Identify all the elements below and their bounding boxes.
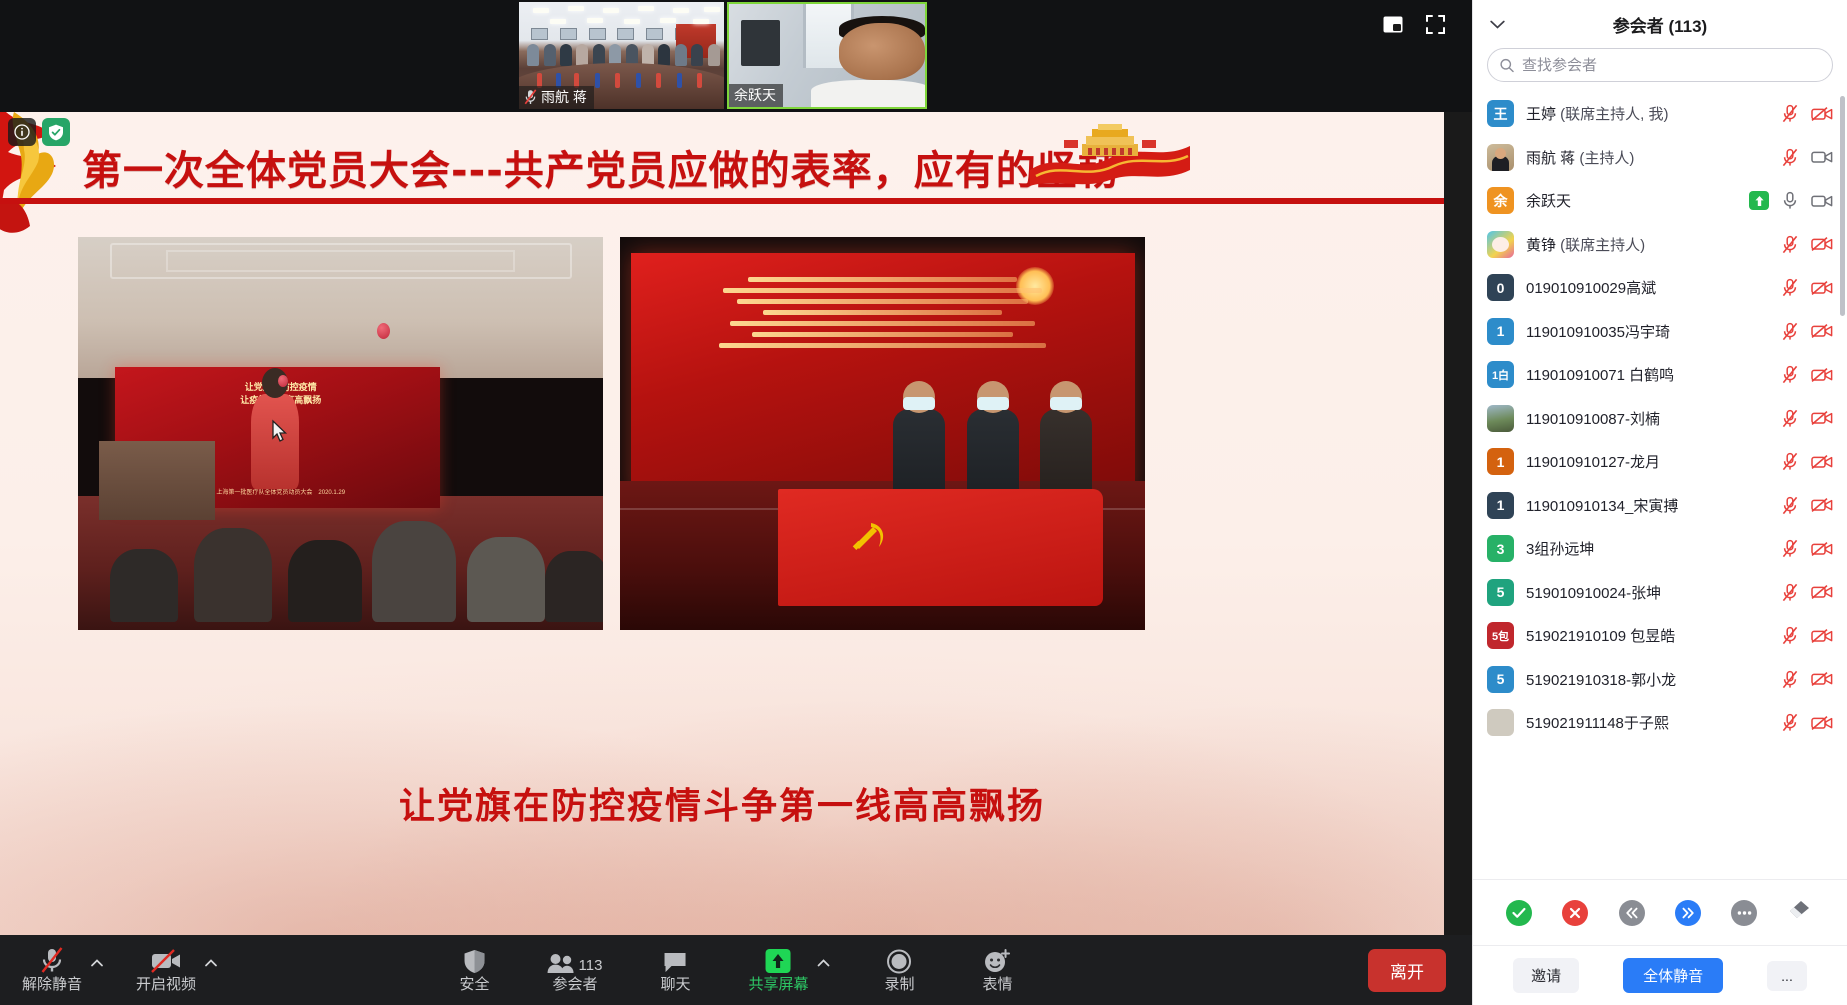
- search-icon: [1500, 58, 1514, 73]
- participant-controls: [1782, 278, 1833, 297]
- thumbnail-participant-name: 雨航 蒋: [541, 88, 587, 106]
- participant-row[interactable]: 5519021910318-郭小龙: [1473, 658, 1847, 702]
- shield-icon: [464, 946, 486, 974]
- mute-button[interactable]: 解除静音: [16, 939, 88, 1001]
- mic-muted-icon[interactable]: [1782, 148, 1798, 167]
- avatar: 5: [1487, 579, 1514, 606]
- camera-off-icon[interactable]: [1811, 280, 1833, 296]
- mic-muted-icon[interactable]: [1782, 713, 1798, 732]
- security-button[interactable]: 安全: [444, 939, 506, 1001]
- avatar: 5包: [1487, 622, 1514, 649]
- camera-off-icon[interactable]: [1811, 454, 1833, 470]
- participants-panel-title: 参会者 (113): [1613, 12, 1707, 37]
- search-box[interactable]: [1487, 48, 1833, 82]
- participants-list[interactable]: 王王婷 (联席主持人, 我)雨航 蒋 (主持人)余余跃天黄铮 (联席主持人)00…: [1473, 92, 1847, 879]
- share-screen-button[interactable]: 共享屏幕: [742, 939, 814, 1001]
- participant-reaction-actions: [1473, 879, 1847, 945]
- participant-name: 519010910024-张坤: [1526, 582, 1770, 603]
- shield-check-icon[interactable]: [42, 118, 70, 146]
- mic-muted-icon[interactable]: [1782, 583, 1798, 602]
- zoom-meeting-window: 第一次全体党员大会---共产党员应做的表率，应有的坚韧: [0, 0, 1847, 1005]
- camera-off-icon[interactable]: [1811, 715, 1833, 731]
- participant-name: 余跃天: [1526, 190, 1737, 211]
- participant-controls: [1782, 409, 1833, 428]
- info-icon[interactable]: [8, 118, 36, 146]
- participant-name: 119010910127-龙月: [1526, 451, 1770, 472]
- camera-off-icon[interactable]: [1811, 106, 1833, 122]
- participant-role: (联席主持人): [1556, 237, 1645, 254]
- participants-button[interactable]: 113 参会者: [542, 939, 609, 1001]
- participant-name: 519021910109 包昱皓: [1526, 625, 1770, 646]
- video-options-chevron-icon[interactable]: [202, 939, 220, 1001]
- mic-muted-icon: [524, 89, 537, 105]
- participant-row[interactable]: 黄铮 (联席主持人): [1473, 223, 1847, 267]
- start-video-button[interactable]: 开启视频: [130, 939, 202, 1001]
- record-button[interactable]: 录制: [868, 939, 930, 1001]
- video-filmstrip: 雨航 蒋 余跃天: [0, 0, 1472, 112]
- reactions-button[interactable]: 表情: [966, 939, 1028, 1001]
- avatar: [1487, 405, 1514, 432]
- mic-muted-icon[interactable]: [1782, 322, 1798, 341]
- participant-controls: [1782, 713, 1833, 732]
- video-thumbnail[interactable]: 雨航 蒋: [519, 2, 724, 109]
- participant-controls: [1782, 452, 1833, 471]
- meeting-toolbar: 解除静音 开启视频: [0, 935, 1472, 1005]
- participant-name: 019010910029高斌: [1526, 277, 1770, 298]
- participant-name: 119010910071 白鹤鸣: [1526, 364, 1770, 385]
- tiananmen-ribbon-ornament: [1030, 118, 1190, 194]
- participant-controls: [1782, 583, 1833, 602]
- participant-controls: [1782, 496, 1833, 515]
- reactions-button-label: 表情: [982, 976, 1012, 994]
- avatar: 王: [1487, 100, 1514, 127]
- share-screen-up-arrow-icon: [765, 946, 792, 974]
- participant-row[interactable]: 33组孙远坤: [1473, 527, 1847, 571]
- shared-screen-content: 第一次全体党员大会---共产党员应做的表率，应有的坚韧: [0, 112, 1444, 935]
- mic-muted-icon[interactable]: [1782, 365, 1798, 384]
- mic-muted-icon[interactable]: [1782, 496, 1798, 515]
- camera-off-icon[interactable]: [1811, 410, 1833, 426]
- search-input[interactable]: [1522, 57, 1820, 74]
- slide-photo-auditorium: 让党旗在防控疫情让疫第一线高高飘扬 上海第一批医疗队全体党员动员大会 2020.…: [78, 237, 603, 630]
- participants-search: [1473, 48, 1847, 92]
- camera-off-icon[interactable]: [1811, 236, 1833, 252]
- participant-controls: [1782, 670, 1833, 689]
- chat-button-label: 聊天: [660, 976, 690, 994]
- participant-role: (主持人): [1575, 150, 1634, 167]
- participant-row[interactable]: 0019010910029高斌: [1473, 266, 1847, 310]
- participant-name: 119010910035冯宇琦: [1526, 321, 1770, 342]
- participant-row[interactable]: 余余跃天: [1473, 179, 1847, 223]
- raise-hand-icon[interactable]: [1749, 191, 1769, 210]
- chevron-down-icon[interactable]: [1487, 14, 1507, 34]
- avatar: [1487, 144, 1514, 171]
- participant-controls: [1782, 322, 1833, 341]
- camera-off-icon: [150, 946, 182, 974]
- avatar: [1487, 231, 1514, 258]
- panel-more-options-button[interactable]: ...: [1767, 961, 1807, 991]
- avatar: 余: [1487, 187, 1514, 214]
- chat-bubble-icon: [663, 946, 688, 974]
- record-circle-icon: [887, 946, 912, 974]
- participant-row[interactable]: 119010910087-刘楠: [1473, 397, 1847, 441]
- participant-controls: [1782, 148, 1833, 167]
- participant-name: 黄铮 (联席主持人): [1526, 234, 1770, 255]
- no-button[interactable]: [1562, 900, 1588, 926]
- video-thumbnail-active-speaker[interactable]: 余跃天: [727, 2, 927, 109]
- speed-up-button[interactable]: [1675, 900, 1701, 926]
- avatar: 1: [1487, 492, 1514, 519]
- camera-off-icon[interactable]: [1811, 584, 1833, 600]
- participants-panel-footer: 邀请 全体静音 ...: [1473, 945, 1847, 1005]
- participant-name: 119010910134_宋寅搏: [1526, 495, 1770, 516]
- participant-row[interactable]: 1119010910035冯宇琦: [1473, 310, 1847, 354]
- participant-controls: [1782, 539, 1833, 558]
- mic-muted-icon[interactable]: [1782, 670, 1798, 689]
- camera-off-icon[interactable]: [1811, 628, 1833, 644]
- slide-caption: 让党旗在防控疫情斗争第一线高高飘扬: [0, 777, 1444, 829]
- participant-row[interactable]: 1白119010910071 白鹤鸣: [1473, 353, 1847, 397]
- mic-muted-icon: [39, 946, 65, 974]
- camera-on-icon[interactable]: [1811, 149, 1833, 165]
- mic-muted-icon[interactable]: [1782, 539, 1798, 558]
- participant-role: (联席主持人, 我): [1556, 106, 1669, 123]
- slide-title-rule: [0, 198, 1444, 204]
- participants-button-label: 参会者: [552, 976, 597, 994]
- participant-controls: [1782, 235, 1833, 254]
- meeting-stage: 第一次全体党员大会---共产党员应做的表率，应有的坚韧: [0, 0, 1472, 1005]
- mic-muted-icon[interactable]: [1782, 626, 1798, 645]
- meeting-info-badges: [8, 118, 70, 146]
- camera-off-icon[interactable]: [1811, 497, 1833, 513]
- picture-in-picture-icon[interactable]: [1378, 10, 1408, 38]
- participant-name: 519021911148于子熙: [1526, 712, 1770, 733]
- thumbnail-participant-name: 余跃天: [734, 86, 776, 104]
- participant-controls: [1782, 626, 1833, 645]
- avatar: 3: [1487, 535, 1514, 562]
- participant-name: 王婷 (联席主持人, 我): [1526, 103, 1770, 124]
- mute-all-button[interactable]: 全体静音: [1623, 958, 1723, 993]
- photo-party-flag: [778, 489, 1104, 607]
- hammer-sickle-emblem-icon: [849, 517, 891, 559]
- avatar: 1: [1487, 318, 1514, 345]
- camera-off-icon[interactable]: [1811, 323, 1833, 339]
- camera-off-icon[interactable]: [1811, 541, 1833, 557]
- participant-row[interactable]: 王王婷 (联席主持人, 我): [1473, 92, 1847, 136]
- share-screen-button-label: 共享屏幕: [748, 976, 808, 994]
- thumbnail-label: 余跃天: [729, 84, 783, 107]
- slide-mountain-watermark: [0, 605, 1444, 935]
- mute-button-label: 解除静音: [22, 976, 82, 994]
- camera-on-icon[interactable]: [1811, 193, 1833, 209]
- share-options-chevron-icon[interactable]: [814, 939, 832, 1001]
- camera-off-icon[interactable]: [1811, 367, 1833, 383]
- participant-row[interactable]: 雨航 蒋 (主持人): [1473, 136, 1847, 180]
- more-reactions-button[interactable]: [1731, 900, 1757, 926]
- participant-name: 119010910087-刘楠: [1526, 408, 1770, 429]
- avatar: [1487, 709, 1514, 736]
- avatar: 5: [1487, 666, 1514, 693]
- participants-icon: 113: [548, 946, 603, 974]
- thumbnail-label: 雨航 蒋: [519, 86, 594, 109]
- avatar: 1白: [1487, 361, 1514, 388]
- slide-title: 第一次全体党员大会---共产党员应做的表率，应有的坚韧: [82, 138, 1119, 196]
- mic-muted-icon[interactable]: [1782, 278, 1798, 297]
- start-video-button-label: 开启视频: [136, 976, 196, 994]
- invite-button[interactable]: 邀请: [1513, 958, 1579, 993]
- mic-muted-icon[interactable]: [1782, 452, 1798, 471]
- participant-row[interactable]: 1119010910127-龙月: [1473, 440, 1847, 484]
- participants-panel: 参会者 (113) 王王婷 (联席主持人, 我)雨航 蒋 (主持人)余余跃天黄铮…: [1472, 0, 1847, 1005]
- participant-controls: [1782, 365, 1833, 384]
- avatar: 1: [1487, 448, 1514, 475]
- participant-name: 3组孙远坤: [1526, 538, 1770, 559]
- participant-row[interactable]: 1119010910134_宋寅搏: [1473, 484, 1847, 528]
- participants-panel-header: 参会者 (113): [1473, 0, 1847, 48]
- participant-row[interactable]: 5包519021910109 包昱皓: [1473, 614, 1847, 658]
- slide-photo-party-flag: [620, 237, 1145, 630]
- yes-button[interactable]: [1506, 900, 1532, 926]
- participant-row[interactable]: 5519010910024-张坤: [1473, 571, 1847, 615]
- participant-controls: [1782, 104, 1833, 123]
- participants-count: 113: [579, 957, 603, 974]
- avatar: 0: [1487, 274, 1514, 301]
- record-button-label: 录制: [884, 976, 914, 994]
- security-button-label: 安全: [460, 976, 490, 994]
- participant-controls: [1749, 191, 1833, 210]
- audio-options-chevron-icon[interactable]: [88, 939, 106, 1001]
- clear-all-button[interactable]: [1788, 900, 1814, 925]
- slide-header: 第一次全体党员大会---共产党员应做的表率，应有的坚韧: [0, 112, 1444, 216]
- mic-on-icon[interactable]: [1782, 191, 1798, 210]
- smiley-plus-icon: [984, 946, 1011, 974]
- mic-muted-icon[interactable]: [1782, 104, 1798, 123]
- camera-off-icon[interactable]: [1811, 671, 1833, 687]
- participant-row[interactable]: 519021911148于子熙: [1473, 701, 1847, 745]
- leave-meeting-button[interactable]: 离开: [1368, 949, 1446, 992]
- participant-name: 519021910318-郭小龙: [1526, 669, 1770, 690]
- slow-down-button[interactable]: [1619, 900, 1645, 926]
- participants-scrollbar-thumb[interactable]: [1840, 96, 1845, 316]
- mic-muted-icon[interactable]: [1782, 235, 1798, 254]
- fullscreen-icon[interactable]: [1420, 10, 1450, 38]
- chat-button[interactable]: 聊天: [644, 939, 706, 1001]
- mic-muted-icon[interactable]: [1782, 409, 1798, 428]
- participant-name: 雨航 蒋 (主持人): [1526, 147, 1770, 168]
